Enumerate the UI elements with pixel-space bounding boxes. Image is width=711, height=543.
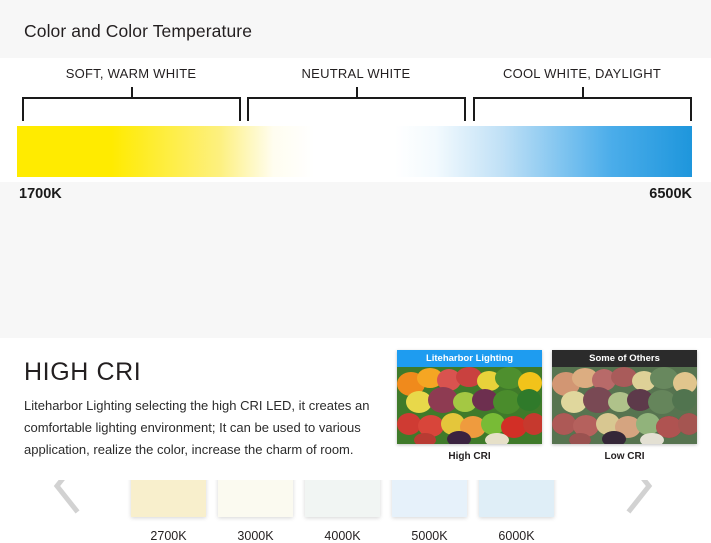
bracket-soft-warm-white	[22, 97, 241, 121]
cri-description: Liteharbor Lighting selecting the high C…	[24, 395, 390, 461]
comparison-item-low-cri: Some of Others Low CRI	[552, 350, 697, 474]
swatch-carousel: 2700K 3000K 4000K 5000K 6000K	[0, 210, 711, 338]
color-temperature-infographic: Color and Color Temperature SOFT, WARM W…	[0, 0, 711, 480]
bracket-stem	[582, 87, 584, 99]
swatch-label: 3000K	[218, 529, 293, 543]
bracket-stem	[131, 87, 133, 99]
category-label-cool-white-daylight: COOL WHITE, DAYLIGHT	[473, 66, 691, 81]
bracket-neutral-white	[247, 97, 466, 121]
comparison-image-frame: Some of Others	[552, 350, 697, 444]
swatch-label: 2700K	[131, 529, 206, 543]
cri-heading: HIGH CRI	[24, 358, 141, 387]
high-cri-section: HIGH CRI Liteharbor Lighting selecting t…	[0, 338, 711, 480]
comparison-item-high-cri: Liteharbor Lighting High CRI	[397, 350, 542, 474]
comparison-image-frame: Liteharbor Lighting	[397, 350, 542, 444]
kelvin-range-low: 1700K	[19, 186, 62, 202]
category-label-neutral-white: NEUTRAL WHITE	[247, 66, 465, 81]
color-temperature-gradient-bar	[17, 126, 692, 177]
swatch-label: 6000K	[479, 529, 554, 543]
bracket-cool-white-daylight	[473, 97, 692, 121]
swatch-label: 5000K	[392, 529, 467, 543]
comparison-header-high-cri: Liteharbor Lighting	[397, 350, 542, 367]
kelvin-range-high: 6500K	[649, 186, 692, 202]
swatch-label: 4000K	[305, 529, 380, 543]
page-title: Color and Color Temperature	[24, 21, 252, 42]
bracket-stem	[356, 87, 358, 99]
comparison-caption-low-cri: Low CRI	[552, 451, 697, 462]
comparison-header-low-cri: Some of Others	[552, 350, 697, 367]
cri-comparison: Liteharbor Lighting High CRI	[397, 346, 697, 474]
category-label-soft-warm-white: SOFT, WARM WHITE	[22, 66, 240, 81]
comparison-caption-high-cri: High CRI	[397, 451, 542, 462]
